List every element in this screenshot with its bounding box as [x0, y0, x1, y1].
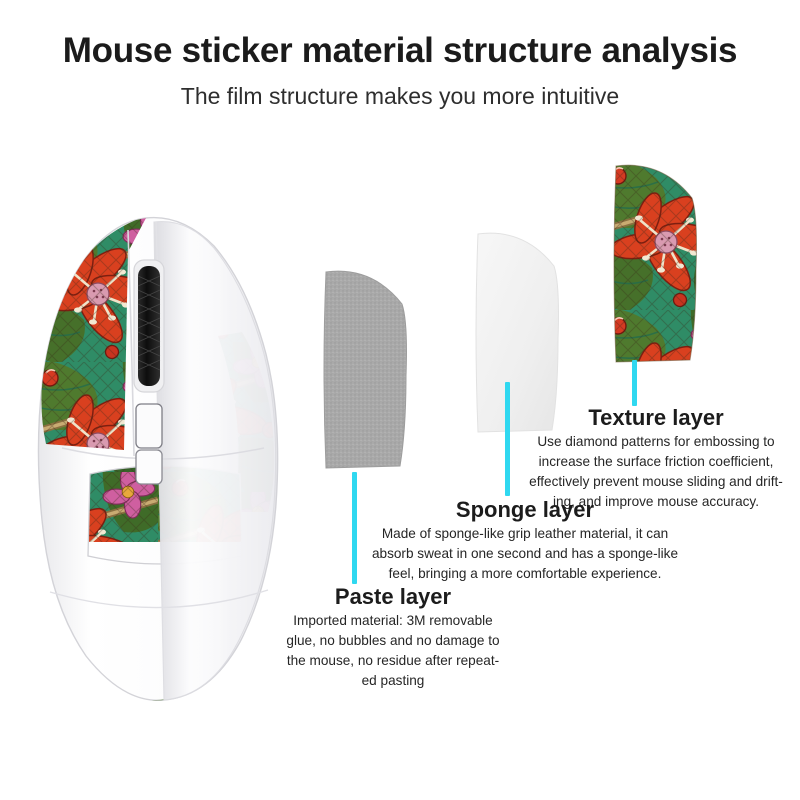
texture-body-line-2: increase the surface friction coefficien…	[512, 452, 800, 472]
page-subtitle: The film structure makes you more intuit…	[0, 85, 800, 108]
paste-body-line-3: the mouse, no residue after repeat-	[248, 651, 538, 671]
paste-body-line-4: ed pasting	[248, 671, 538, 691]
page-title: Mouse sticker material structure analysi…	[0, 33, 800, 68]
leader-line-sponge	[505, 382, 510, 496]
texture-layer-swatch	[602, 160, 710, 370]
scroll-wheel[interactable]	[134, 260, 164, 392]
texture-body-line-3: effectively prevent mouse sliding and dr…	[512, 472, 800, 492]
dpi-button-upper[interactable]	[136, 404, 162, 448]
paste-layer-title: Paste layer	[248, 585, 538, 608]
header: Mouse sticker material structure analysi…	[0, 0, 800, 108]
sponge-layer-body: Made of sponge-like grip leather materia…	[355, 524, 695, 584]
paste-layer-body: Imported material: 3M removable glue, no…	[248, 611, 538, 691]
paste-body-line-1: Imported material: 3M removable	[248, 611, 538, 631]
sponge-layer-title: Sponge layer	[355, 498, 695, 521]
texture-body-line-1: Use diamond patterns for embossing to	[512, 432, 800, 452]
dpi-button-lower[interactable]	[136, 450, 162, 484]
leader-line-texture	[632, 360, 637, 406]
callout-paste-layer: Paste layer Imported material: 3M remova…	[248, 585, 538, 691]
callout-sponge-layer: Sponge layer Made of sponge-like grip le…	[355, 498, 695, 584]
sponge-body-line-2: absorb sweat in one second and has a spo…	[355, 544, 695, 564]
texture-layer-title: Texture layer	[512, 406, 800, 429]
paste-body-line-2: glue, no bubbles and no damage to	[248, 631, 538, 651]
paste-layer-swatch	[310, 266, 420, 476]
sponge-body-line-3: feel, bringing a more comfortable experi…	[355, 564, 695, 584]
infographic-canvas: Mouse sticker material structure analysi…	[0, 0, 800, 800]
sponge-body-line-1: Made of sponge-like grip leather materia…	[355, 524, 695, 544]
